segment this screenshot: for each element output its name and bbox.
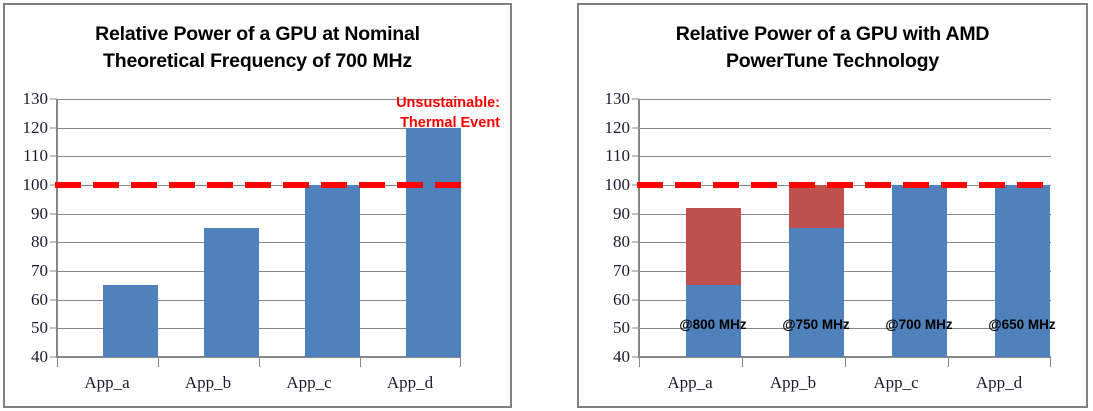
chart-title-nominal-line1: Relative Power of a GPU at Nominal <box>5 21 510 48</box>
ytickmark-130 <box>632 99 639 100</box>
ytickmark-60 <box>50 299 57 300</box>
ytick-label-80: 80 <box>613 232 630 252</box>
ytick-label-90: 90 <box>31 204 48 224</box>
xtick-label-app-b: App_b <box>770 373 816 393</box>
ytickmark-40 <box>632 357 639 358</box>
gridline-110 <box>639 156 1051 157</box>
freq-label-app-d: @650 MHz <box>988 317 1055 332</box>
y-axis-line <box>638 99 640 357</box>
chart-title-powertune-line2: PowerTune Technology <box>579 48 1086 75</box>
category-separator-0 <box>57 357 58 367</box>
gridline-70 <box>57 271 461 272</box>
gridline-110 <box>57 156 461 157</box>
xtick-label-app-a: App_a <box>667 373 712 393</box>
ytick-label-120: 120 <box>23 118 49 138</box>
category-separator-2 <box>259 357 260 367</box>
bar-app-a[interactable] <box>103 285 158 357</box>
annotation-line2: Thermal Event <box>396 113 500 133</box>
bar-app-d-blue-segment <box>406 128 461 357</box>
category-separator-1 <box>158 357 159 367</box>
annotation-line1: Unsustainable: <box>396 93 500 113</box>
ytickmark-60 <box>632 299 639 300</box>
ytick-label-60: 60 <box>31 290 48 310</box>
xtick-label-app-d: App_d <box>976 373 1022 393</box>
chart-title-powertune: Relative Power of a GPU with AMD PowerTu… <box>579 21 1086 75</box>
y-axis-line <box>56 99 58 357</box>
ytick-label-110: 110 <box>605 146 630 166</box>
ytick-label-70: 70 <box>31 261 48 281</box>
gridline-120 <box>639 128 1051 129</box>
bar-app-a-blue-segment <box>103 285 158 357</box>
ytick-label-50: 50 <box>31 318 48 338</box>
ytickmark-80 <box>50 242 57 243</box>
xtick-label-app-d: App_d <box>387 373 433 393</box>
category-separator-4 <box>460 357 461 367</box>
ytickmark-110 <box>632 156 639 157</box>
freq-label-app-a: @800 MHz <box>679 317 746 332</box>
ytick-label-60: 60 <box>613 290 630 310</box>
bar-app-b-red-segment <box>789 185 844 228</box>
unsustainable-annotation: Unsustainable: Thermal Event <box>396 93 500 133</box>
gridline-130 <box>639 99 1051 100</box>
ytick-label-130: 130 <box>605 89 631 109</box>
plot-area-nominal: 130 120 110 100 90 80 70 60 50 40 <box>57 99 461 357</box>
ytickmark-50 <box>632 328 639 329</box>
category-separator-4 <box>1050 357 1051 367</box>
ytick-label-100: 100 <box>605 175 631 195</box>
chart-title-nominal: Relative Power of a GPU at Nominal Theor… <box>5 21 510 75</box>
ytickmark-110 <box>50 156 57 157</box>
category-separator-3 <box>948 357 949 367</box>
bar-app-a-red-segment <box>686 208 741 285</box>
chart-title-powertune-line1: Relative Power of a GPU with AMD <box>579 21 1086 48</box>
gridline-80 <box>57 242 461 243</box>
ytick-label-80: 80 <box>31 232 48 252</box>
ytick-label-130: 130 <box>23 89 49 109</box>
ytick-label-70: 70 <box>613 261 630 281</box>
bar-app-c-blue-segment <box>305 185 360 357</box>
chart-powertune: Relative Power of a GPU with AMD PowerTu… <box>577 3 1088 408</box>
category-separator-0 <box>639 357 640 367</box>
ytickmark-130 <box>50 99 57 100</box>
ytickmark-70 <box>632 271 639 272</box>
chart-title-nominal-line2: Theoretical Frequency of 700 MHz <box>5 48 510 75</box>
category-separator-3 <box>360 357 361 367</box>
ytick-label-40: 40 <box>31 347 48 367</box>
xtick-label-app-a: App_a <box>84 373 129 393</box>
bar-app-b-blue-segment <box>204 228 259 357</box>
ytickmark-120 <box>632 127 639 128</box>
bar-app-c[interactable] <box>305 185 360 357</box>
ytick-label-110: 110 <box>23 146 48 166</box>
bar-app-b-blue-segment <box>789 228 844 357</box>
ytickmark-80 <box>632 242 639 243</box>
gridline-90 <box>57 214 461 215</box>
plot-area-powertune: 130 120 110 100 90 80 70 60 50 40 <box>639 99 1051 357</box>
ytick-label-50: 50 <box>613 318 630 338</box>
ytickmark-90 <box>50 213 57 214</box>
category-separator-2 <box>845 357 846 367</box>
ytick-label-100: 100 <box>23 175 49 195</box>
ytickmark-50 <box>50 328 57 329</box>
bar-app-a[interactable] <box>686 208 741 357</box>
xtick-label-app-b: App_b <box>185 373 231 393</box>
ytickmark-40 <box>50 357 57 358</box>
chart-nominal-frequency: Relative Power of a GPU at Nominal Theor… <box>3 3 512 408</box>
thermal-limit-line <box>55 182 465 188</box>
xtick-label-app-c: App_c <box>286 373 331 393</box>
freq-label-app-b: @750 MHz <box>782 317 849 332</box>
ytick-label-120: 120 <box>605 118 631 138</box>
xtick-label-app-c: App_c <box>873 373 918 393</box>
ytick-label-90: 90 <box>613 204 630 224</box>
freq-label-app-c: @700 MHz <box>885 317 952 332</box>
category-separator-1 <box>742 357 743 367</box>
chart-pair-figure: Relative Power of a GPU at Nominal Theor… <box>0 0 1093 411</box>
ytick-label-40: 40 <box>613 347 630 367</box>
bar-app-b[interactable] <box>204 228 259 357</box>
thermal-limit-line <box>637 182 1055 188</box>
ytickmark-120 <box>50 127 57 128</box>
ytickmark-90 <box>632 213 639 214</box>
ytickmark-70 <box>50 271 57 272</box>
bar-app-d[interactable] <box>406 128 461 357</box>
